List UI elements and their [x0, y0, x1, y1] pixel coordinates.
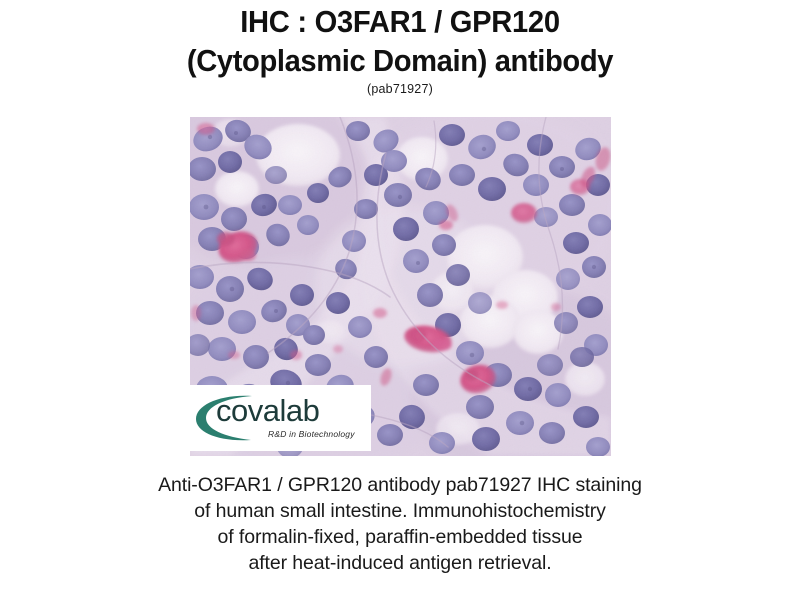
caption-line-1: Anti-O3FAR1 / GPR120 antibody pab71927 I…: [0, 472, 800, 498]
caption-line-3: of formalin-fixed, paraffin-embedded tis…: [0, 524, 800, 550]
catalog-number: (pab71927): [0, 81, 800, 97]
title-block: IHC : O3FAR1 / GPR120 (Cytoplasmic Domai…: [0, 0, 800, 97]
page-title-line-1: IHC : O3FAR1 / GPR120: [24, 2, 776, 41]
caption-line-2: of human small intestine. Immunohistoche…: [0, 498, 800, 524]
figure-caption: Anti-O3FAR1 / GPR120 antibody pab71927 I…: [0, 472, 800, 576]
covalab-logo: covalab R&D in Biotechnology: [190, 385, 371, 451]
covalab-tagline: R&D in Biotechnology: [268, 429, 355, 439]
covalab-wordmark: covalab: [216, 393, 319, 429]
page-title-line-2: (Cytoplasmic Domain) antibody: [24, 41, 776, 80]
caption-line-4: after heat-induced antigen retrieval.: [0, 550, 800, 576]
figure-container: covalab R&D in Biotechnology: [190, 117, 611, 456]
